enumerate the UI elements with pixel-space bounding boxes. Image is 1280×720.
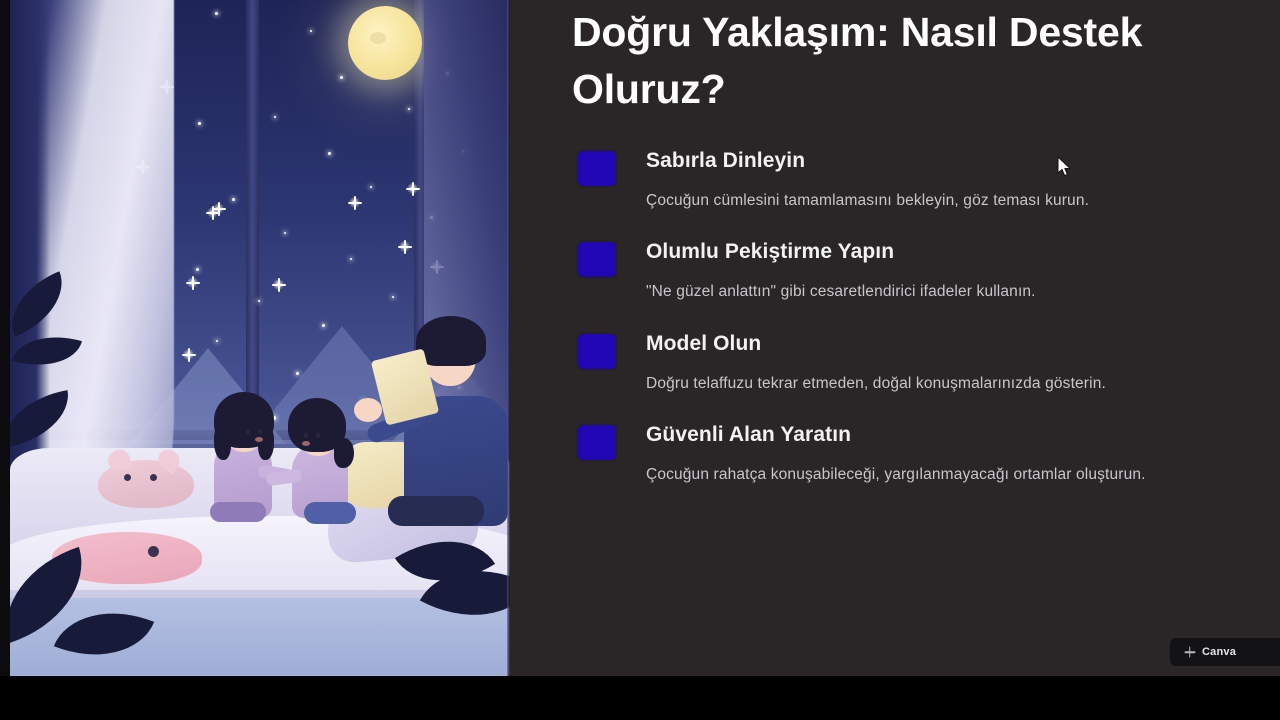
child-right-eye	[304, 433, 308, 438]
sparkle-star	[212, 202, 225, 215]
sparkle-star	[182, 348, 195, 361]
star	[232, 198, 235, 201]
list-item-description: "Ne güzel anlattın" gibi cesaretlendiric…	[646, 279, 1246, 304]
star	[350, 258, 352, 260]
slide-root: Doğru Yaklaşım: Nasıl Destek Oluruz? Sab…	[0, 0, 1280, 720]
list-item-description: Çocuğun cümlesini tamamlamasını bekleyin…	[646, 188, 1246, 213]
list-item-title: Olumlu Pekiştirme Yapın	[646, 239, 1272, 264]
star	[328, 152, 331, 155]
bullet-square-icon	[578, 242, 616, 277]
plush-eye	[150, 474, 157, 481]
slide-content-panel: Doğru Yaklaşım: Nasıl Destek Oluruz? Sab…	[513, 0, 1280, 676]
star	[284, 232, 286, 234]
sparkle-star	[398, 240, 411, 253]
sparkle-icon	[1184, 647, 1195, 658]
star	[408, 108, 410, 110]
star	[274, 116, 276, 118]
night-bedroom-family-illustration	[10, 0, 510, 676]
star	[392, 296, 394, 298]
child-left-eye	[246, 429, 250, 434]
illustration-edge	[507, 0, 510, 676]
list-item: Güvenli Alan Yaratın Çocuğun rahatça kon…	[572, 422, 1272, 487]
star	[370, 186, 372, 188]
star	[215, 12, 218, 15]
sparkle-star	[348, 196, 361, 209]
list-item-title: Güvenli Alan Yaratın	[646, 422, 1272, 447]
child-left-cheek	[255, 437, 263, 442]
child-right	[282, 386, 362, 518]
adult-hand	[354, 398, 382, 422]
list-item: Sabırla Dinleyin Çocuğun cümlesini tamam…	[572, 148, 1272, 213]
plush-toy-cat	[98, 460, 194, 508]
bullet-square-icon	[578, 334, 616, 369]
sparkle-star	[186, 276, 199, 289]
adult-parent	[370, 316, 510, 526]
star	[258, 300, 260, 302]
adult-hair	[416, 316, 486, 366]
list-item-description: Doğru telaffuzu tekrar etmeden, doğal ko…	[646, 371, 1246, 396]
child-left	[206, 382, 284, 518]
star	[322, 324, 325, 327]
child-right-cheek	[302, 441, 310, 446]
child-right-ponytail	[334, 438, 354, 468]
canva-watermark-label: Canva	[1202, 646, 1236, 658]
moon	[348, 6, 422, 80]
canva-watermark-badge[interactable]: Canva	[1170, 638, 1280, 666]
child-right-eye	[316, 433, 320, 438]
star	[296, 372, 299, 375]
slide-title: Doğru Yaklaşım: Nasıl Destek Oluruz?	[572, 4, 1252, 117]
list-item: Model Olun Doğru telaffuzu tekrar etmede…	[572, 331, 1272, 396]
bullet-square-icon	[578, 151, 616, 186]
left-letterbox-gutter	[0, 0, 10, 676]
star	[216, 340, 218, 342]
list-item-description: Çocuğun rahatça konuşabileceği, yargılan…	[646, 462, 1246, 487]
bottom-letterbox	[0, 676, 1280, 720]
child-left-hair-side	[214, 424, 231, 460]
bullet-square-icon	[578, 425, 616, 460]
list-item: Olumlu Pekiştirme Yapın "Ne güzel anlatt…	[572, 239, 1272, 304]
child-left-leg	[210, 502, 266, 522]
star	[196, 268, 199, 271]
slide-canvas: Doğru Yaklaşım: Nasıl Destek Oluruz? Sab…	[0, 0, 1280, 676]
child-right-leg	[304, 502, 356, 524]
sparkle-star	[406, 182, 419, 195]
star	[340, 76, 343, 79]
list-item-title: Model Olun	[646, 331, 1272, 356]
child-left-eye	[258, 429, 262, 434]
star	[310, 30, 312, 32]
list-item-title: Sabırla Dinleyin	[646, 148, 1272, 173]
sparkle-star	[272, 278, 285, 291]
plush-eye	[124, 474, 131, 481]
plush-eye	[148, 546, 159, 557]
adult-leg	[388, 496, 484, 526]
support-tips-list: Sabırla Dinleyin Çocuğun cümlesini tamam…	[572, 148, 1272, 513]
star	[198, 122, 201, 125]
